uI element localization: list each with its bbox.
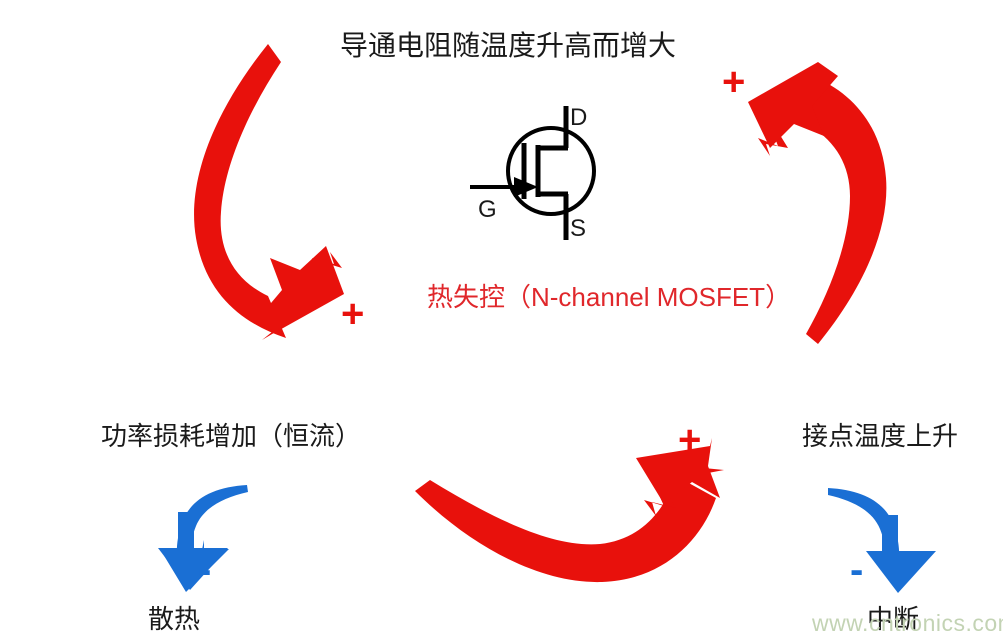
body-arrow: [514, 177, 538, 197]
mosfet-source-label: S: [570, 215, 586, 242]
watermark: www.cntronics.com: [812, 610, 1003, 637]
red-arrows-layer: [0, 0, 1003, 638]
diagram-canvas: D G S 导通电阻随温度升高而增大 热失控（N-channel MOSFET）…: [0, 0, 1003, 638]
sign-plus-top-left: +: [341, 294, 364, 334]
center-label-thermal-runaway: 热失控（N-channel MOSFET）: [427, 284, 791, 310]
node-junction-temperature: 接点温度上升: [802, 423, 958, 449]
node-heat-dissipation: 散热: [148, 606, 200, 632]
mosfet-drain-label: D: [570, 104, 587, 131]
mosfet-gate-label: G: [478, 196, 497, 223]
sign-plus-bottom-center: +: [678, 420, 701, 460]
sign-minus-bottom-left: -: [198, 550, 211, 590]
sign-plus-top-right: +: [722, 62, 745, 102]
blue-arrows-layer: [0, 0, 1003, 638]
arrow-interrupt: [828, 488, 936, 593]
diagram-title: 导通电阻随温度升高而增大: [340, 32, 676, 60]
mosfet-body-circle: [508, 128, 594, 214]
sign-minus-bottom-right: -: [850, 550, 863, 590]
arrow-ron-to-ploss: [194, 44, 344, 340]
mosfet-symbol: D G S: [0, 0, 1003, 638]
node-power-loss: 功率损耗增加（恒流）: [101, 423, 361, 449]
